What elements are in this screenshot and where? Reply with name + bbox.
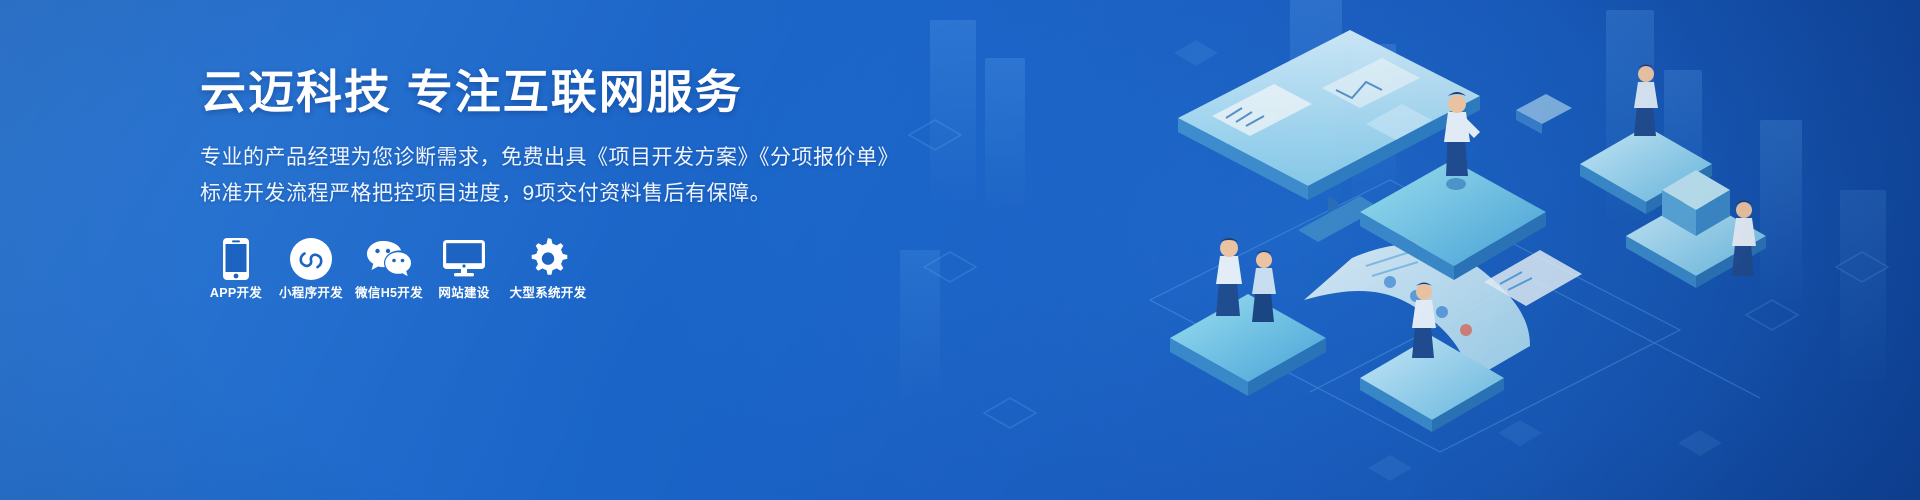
banner-subtitle: 专业的产品经理为您诊断需求，免费出具《项目开发方案》《分项报价单》 标准开发流程… — [200, 140, 900, 212]
wechat-icon — [350, 236, 428, 282]
service-item-wechat-h5[interactable]: 微信H5开发 — [350, 236, 428, 302]
platform-bottom-left — [1170, 294, 1326, 396]
person-bottom-left-b — [1252, 251, 1276, 323]
service-item-app[interactable]: APP开发 — [200, 236, 272, 302]
floating-card-right — [1516, 94, 1572, 134]
mobile-phone-icon — [200, 236, 272, 282]
subtitle-line-1: 专业的产品经理为您诊断需求，免费出具《项目开发方案》《分项报价单》 — [200, 140, 900, 176]
person-right-upper — [1634, 65, 1658, 137]
service-label: APP开发 — [210, 286, 262, 300]
service-label: 网站建设 — [438, 286, 489, 300]
subtitle-line-2: 标准开发流程严格把控项目进度，9项交付资料售后有保障。 — [200, 176, 900, 212]
monitor-icon — [428, 236, 500, 282]
gear-icon — [500, 236, 596, 282]
isometric-illustration — [1060, 0, 1920, 500]
service-label: 微信H5开发 — [355, 286, 423, 300]
person-right-lower — [1732, 201, 1756, 277]
service-list: APP开发 小程序开发 微信 — [200, 236, 596, 302]
banner-content: 云迈科技 专注互联网服务 专业的产品经理为您诊断需求，免费出具《项目开发方案》《… — [200, 64, 900, 212]
service-label: 小程序开发 — [279, 286, 343, 300]
service-item-website[interactable]: 网站建设 — [428, 236, 500, 302]
service-label: 大型系统开发 — [510, 286, 587, 300]
person-bottom-left-a — [1216, 238, 1242, 316]
service-item-large-system[interactable]: 大型系统开发 — [500, 236, 596, 302]
promo-banner: 云迈科技 专注互联网服务 专业的产品经理为您诊断需求，免费出具《项目开发方案》《… — [0, 0, 1920, 500]
page-title: 云迈科技 专注互联网服务 — [200, 64, 900, 122]
service-item-mini-program[interactable]: 小程序开发 — [272, 236, 350, 302]
mini-program-icon — [272, 236, 350, 282]
